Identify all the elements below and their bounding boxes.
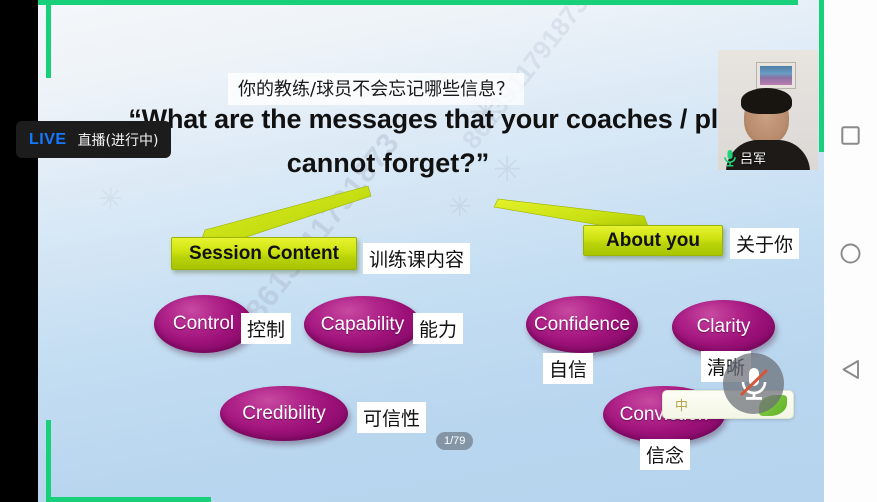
ime-mode-label[interactable]: 中 xyxy=(675,395,688,414)
branch-label-text: Session Content xyxy=(189,243,339,265)
concept-label: Credibility xyxy=(242,403,325,425)
concept-ellipse-control[interactable]: Control xyxy=(154,295,253,353)
slide-page-indicator: 1/79 xyxy=(436,432,473,450)
live-status-badge: LIVE 直播(进行中) xyxy=(16,121,171,158)
microphone-muted-icon xyxy=(737,364,771,404)
concept-ellipse-capability[interactable]: Capability xyxy=(304,296,421,353)
screen-share-border-bottom xyxy=(46,497,211,502)
decorative-flake-3: ✳ xyxy=(448,190,471,223)
recents-square-icon[interactable] xyxy=(841,126,860,150)
slide-subtitle-chinese: 你的教练/球员不会忘记哪些信息？ xyxy=(228,73,524,105)
concept-label: Control xyxy=(173,313,234,335)
concept-label-control-cn: 控制 xyxy=(241,313,291,344)
presenter-video-tile[interactable]: 吕军 xyxy=(718,50,818,170)
presenter-name-label: 吕军 xyxy=(740,148,766,167)
letterbox-gutter-left xyxy=(0,0,38,502)
wall-picture-decoration xyxy=(757,63,795,88)
concept-ellipse-credibility[interactable]: Credibility xyxy=(220,386,348,441)
branch-label-session-content-cn: 训练课内容 xyxy=(363,243,470,274)
concept-label-conviction-cn: 信念 xyxy=(640,439,690,470)
concept-label-confidence-cn: 自信 xyxy=(543,353,593,384)
slide-title-line-1: “What are the messages that your coaches… xyxy=(108,104,808,135)
live-status-text: 直播(进行中) xyxy=(78,130,159,150)
concept-label: Confidence xyxy=(534,314,630,336)
android-navigation-bar xyxy=(824,0,877,502)
presenter-name-row: 吕军 xyxy=(723,148,766,167)
slide-title-line-2: cannot forget?” xyxy=(108,148,668,179)
home-circle-icon[interactable] xyxy=(840,243,861,269)
screen-share-border-top xyxy=(38,0,798,5)
branch-label-about-you[interactable]: About you xyxy=(583,225,723,256)
concept-ellipse-confidence[interactable]: Confidence xyxy=(526,296,638,353)
concept-ellipse-clarity[interactable]: Clarity xyxy=(672,300,775,354)
branch-label-session-content[interactable]: Session Content xyxy=(171,237,357,270)
screen-share-border-left-bottom xyxy=(46,420,51,502)
concept-label-credibility-cn: 可信性 xyxy=(357,402,426,433)
concept-label: Clarity xyxy=(697,316,751,338)
shared-slide-area: ✳ ✳ ✳ ✳ 8613911791873 8613911791873 你的教练… xyxy=(38,0,824,502)
concept-label: Capability xyxy=(321,314,404,336)
microphone-muted-button[interactable] xyxy=(723,353,784,414)
screen-share-border-left-top xyxy=(46,0,51,78)
microphone-icon xyxy=(723,149,737,167)
presenter-hair xyxy=(741,88,792,114)
screen-root: ✳ ✳ ✳ ✳ 8613911791873 8613911791873 你的教练… xyxy=(0,0,877,502)
branch-label-about-you-cn: 关于你 xyxy=(730,228,799,259)
back-triangle-icon[interactable] xyxy=(841,359,861,385)
concept-label-capability-cn: 能力 xyxy=(413,313,463,344)
decorative-flake-4: ✳ xyxy=(98,182,123,217)
live-label: LIVE xyxy=(29,131,67,149)
branch-label-text: About you xyxy=(606,230,700,252)
